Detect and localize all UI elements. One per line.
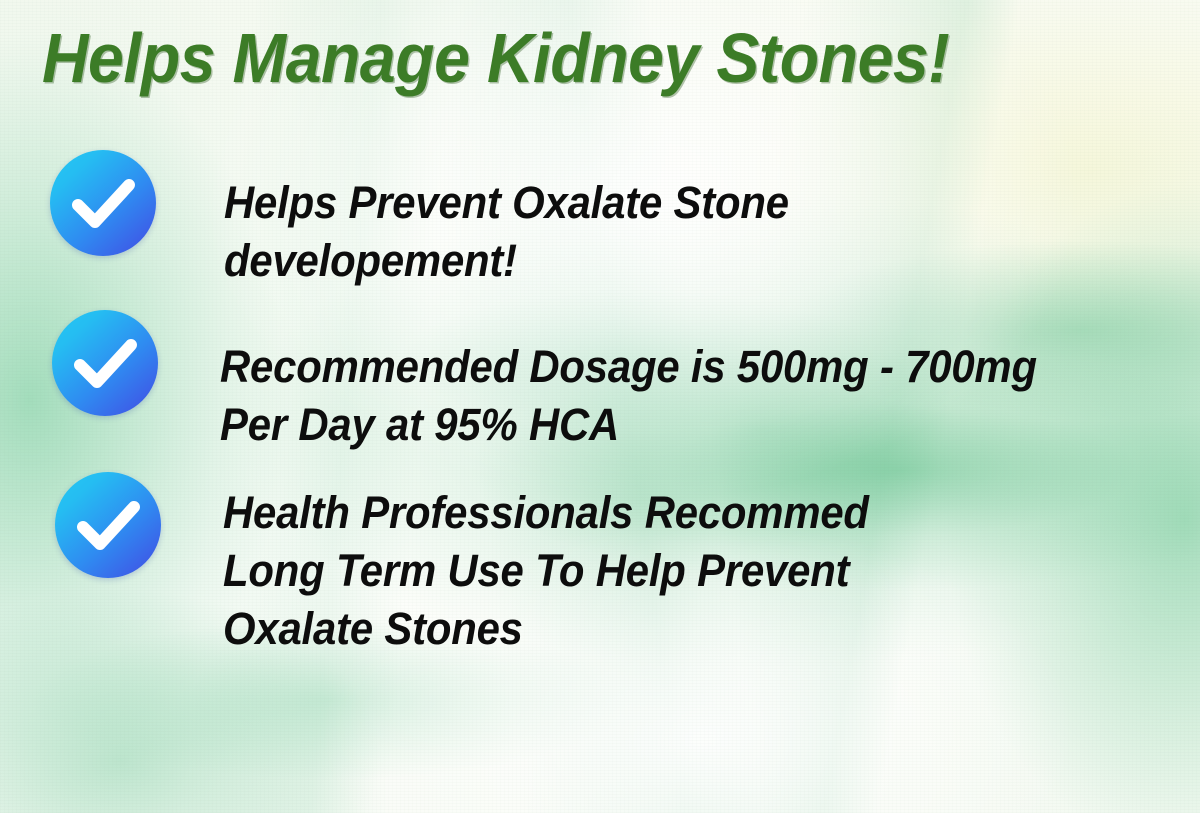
poster-content: Helps Manage Kidney Stones! Helps Preven… xyxy=(0,0,1200,813)
list-item-label: Helps Prevent Oxalate Stone developement… xyxy=(224,174,789,290)
bullet-icon-wrapper xyxy=(52,310,158,416)
bullet-icon-wrapper xyxy=(55,472,161,578)
check-circle-icon xyxy=(50,150,156,256)
list-item: Helps Prevent Oxalate Stone developement… xyxy=(0,150,1200,290)
kidney-stones-benefits-poster: Helps Manage Kidney Stones! Helps Preven… xyxy=(0,0,1200,813)
list-item-label: Health Professionals Recommed Long Term … xyxy=(223,484,869,658)
page-title: Helps Manage Kidney Stones! xyxy=(42,22,949,96)
check-circle-icon xyxy=(55,472,161,578)
list-item: Health Professionals Recommed Long Term … xyxy=(0,472,1200,658)
check-circle-icon xyxy=(52,310,158,416)
bullet-icon-wrapper xyxy=(50,150,156,256)
list-item-label: Recommended Dosage is 500mg - 700mg Per … xyxy=(220,338,1037,454)
list-item: Recommended Dosage is 500mg - 700mg Per … xyxy=(0,310,1200,454)
